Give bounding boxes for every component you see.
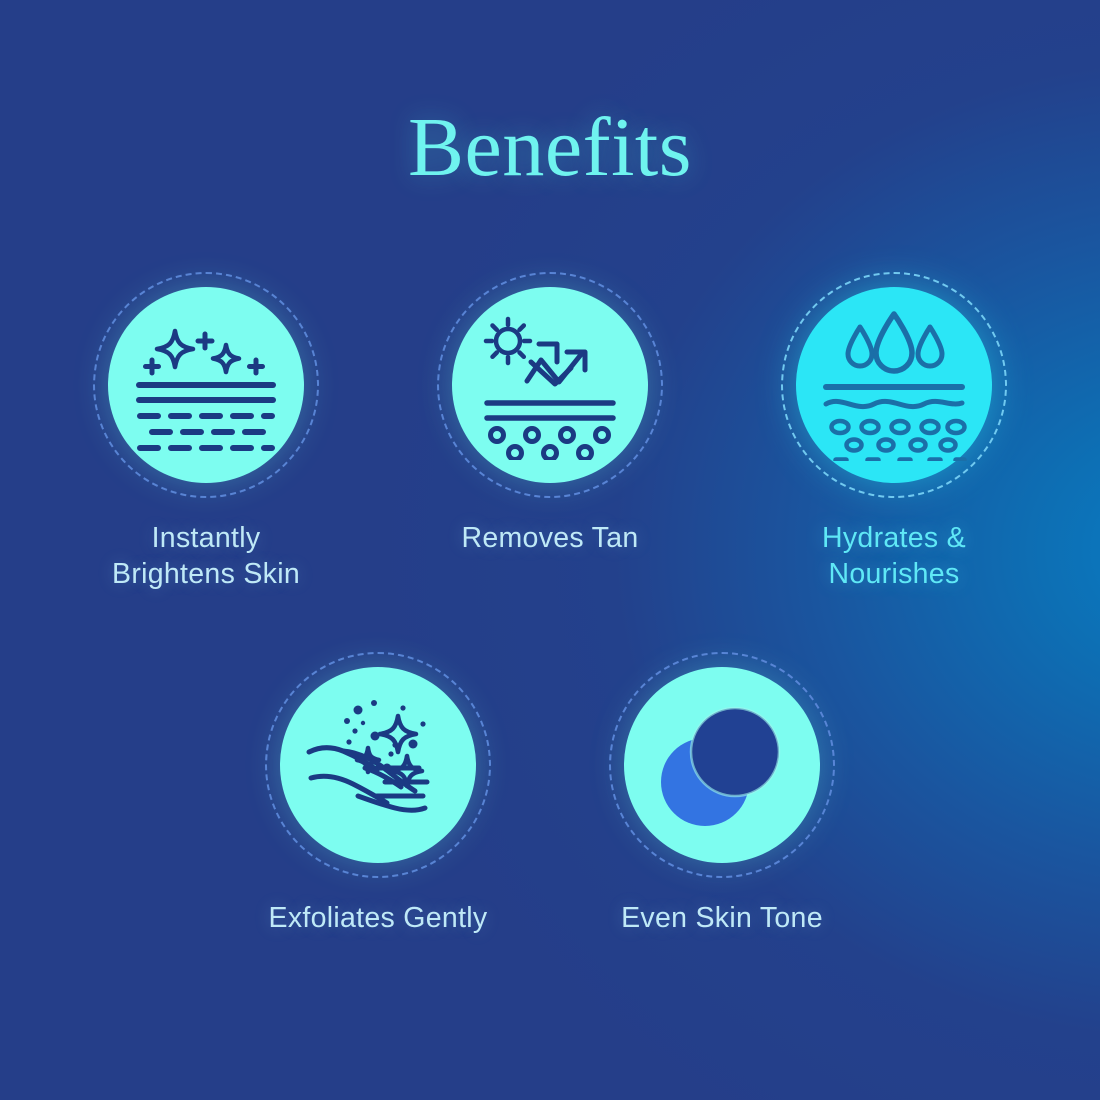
- benefits-row-bottom: Exfoliates Gently Even Skin Tone: [0, 652, 1100, 936]
- sun-arrows-skin-icon: [475, 310, 625, 460]
- benefit-label: Instantly Brightens Skin: [112, 520, 300, 592]
- benefit-label: Removes Tan: [461, 520, 638, 556]
- benefit-badge: [437, 272, 663, 498]
- benefit-label: Even Skin Tone: [621, 900, 823, 936]
- benefit-label: Exfoliates Gently: [269, 900, 488, 936]
- benefit-badge: [609, 652, 835, 878]
- sparkle-skin-layers-icon: [131, 310, 281, 460]
- benefits-poster: Benefits: [0, 0, 1100, 1100]
- benefits-row-top: Instantly Brightens Skin: [0, 272, 1100, 592]
- benefit-badge: [781, 272, 1007, 498]
- benefit-item-exfoliates-gently[interactable]: Exfoliates Gently: [248, 652, 508, 936]
- benefit-badge: [265, 652, 491, 878]
- benefit-label: Hydrates & Nourishes: [822, 520, 966, 592]
- benefit-item-hydrates-and-nourishes[interactable]: Hydrates & Nourishes: [764, 272, 1024, 592]
- overlapping-tone-circles-icon: [647, 690, 797, 840]
- hand-scrub-sparkles-icon: [303, 690, 453, 840]
- page-title: Benefits: [0, 102, 1100, 194]
- benefit-badge: [93, 272, 319, 498]
- benefit-item-instantly-brightens-skin[interactable]: Instantly Brightens Skin: [76, 272, 336, 592]
- benefit-item-removes-tan[interactable]: Removes Tan: [420, 272, 680, 592]
- water-droplets-skin-icon: [818, 309, 970, 461]
- benefit-item-even-skin-tone[interactable]: Even Skin Tone: [592, 652, 852, 936]
